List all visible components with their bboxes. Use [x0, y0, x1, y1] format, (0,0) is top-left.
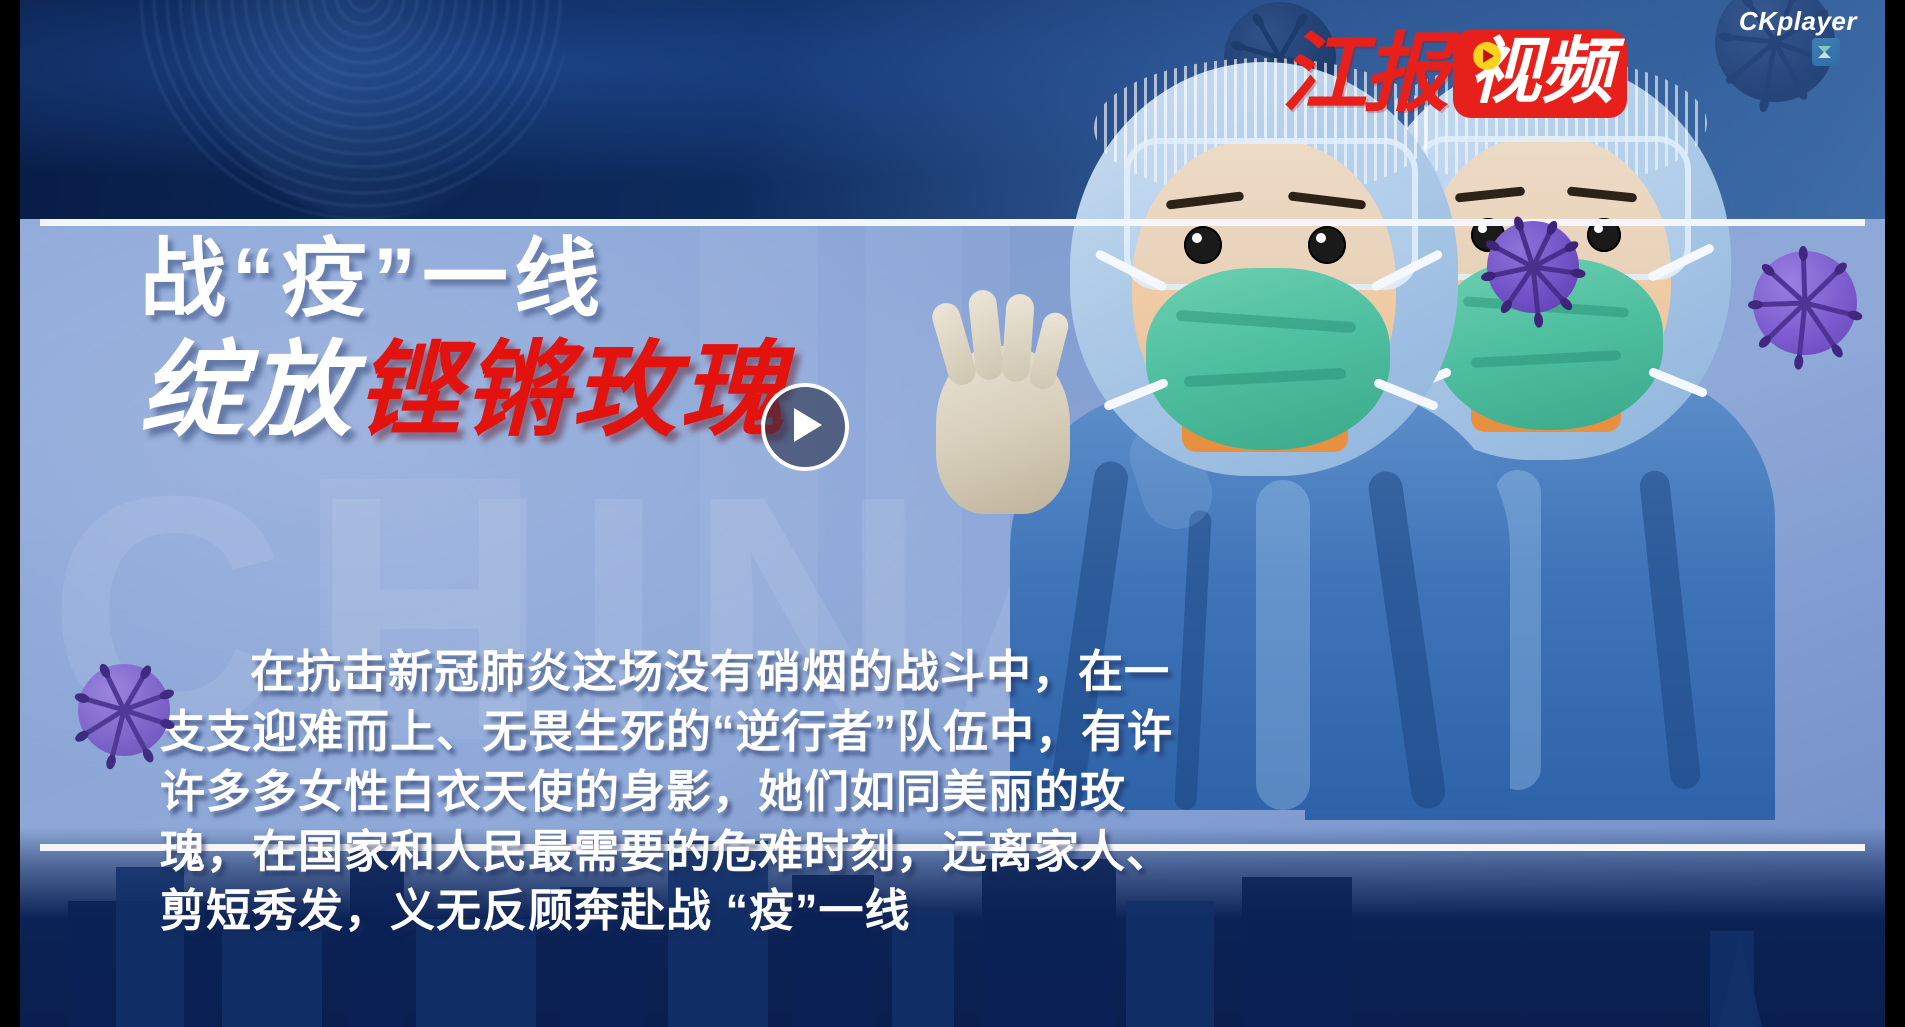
nurse-front-hand [910, 290, 1100, 540]
letterbox-bar-left [0, 0, 20, 1027]
skyline-building [1242, 877, 1352, 1027]
virus-purple-left [34, 620, 214, 800]
video-player[interactable]: CHINA [0, 0, 1905, 1027]
poster-body-text: 在抗击新冠肺炎这场没有硝烟的战斗中，在一支支迎难而上、无畏生死的“逆行者”队伍中… [160, 642, 1190, 941]
headline-line-2-white: 绽放 [140, 334, 356, 449]
hand-finger [1027, 310, 1071, 392]
skyline-building [222, 931, 322, 1027]
nurse-eye [1308, 226, 1346, 264]
headline-line-2-red: 铿锵玫瑰 [356, 334, 788, 449]
share-icon[interactable] [1812, 38, 1840, 66]
gown-highlight [1256, 480, 1310, 810]
channel-logo: 江报 视频 [1281, 22, 1627, 126]
play-button[interactable] [761, 383, 849, 471]
virus-purple-right [1438, 172, 1628, 362]
play-dot-icon [1473, 42, 1501, 70]
logo-badge: 视频 [1453, 30, 1627, 118]
headline-line-1: 战“疫”一线 [140, 230, 788, 329]
video-stage[interactable]: CHINA [20, 0, 1885, 1027]
headline-line-2: 绽放铿锵玫瑰 [140, 335, 788, 449]
player-brand-label: CKplayer [1739, 6, 1857, 37]
nurse-eye [1184, 226, 1222, 264]
virus-purple-far-right [1700, 198, 1885, 408]
letterbox-bar-right [1885, 0, 1905, 1027]
logo-script-text: 江报 [1281, 31, 1445, 117]
skyline-building [1710, 931, 1754, 1027]
headline-block: 战“疫”一线 绽放铿锵玫瑰 [140, 230, 788, 449]
play-triangle-icon [794, 408, 822, 442]
nurse-mask [1146, 268, 1390, 450]
